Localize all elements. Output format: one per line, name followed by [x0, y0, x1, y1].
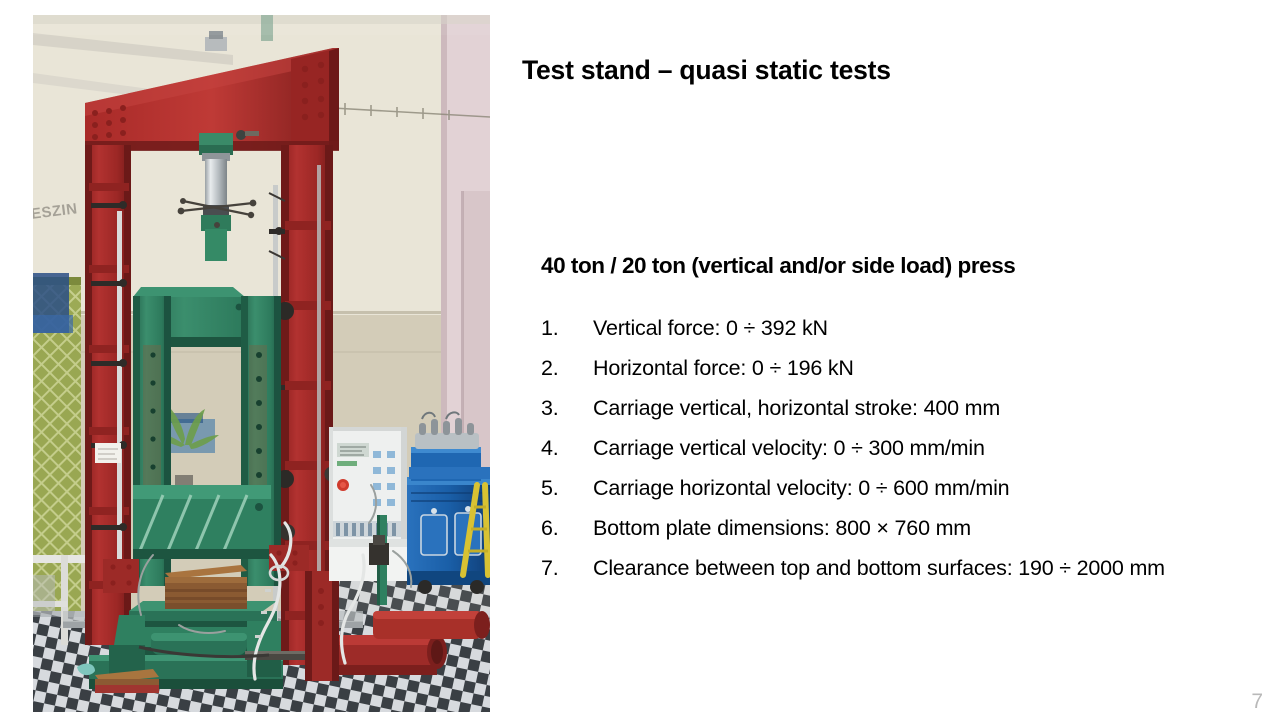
- list-item-text: Carriage vertical velocity: 0 ÷ 300 mm/m…: [593, 428, 1218, 468]
- list-item-text: Horizontal force: 0 ÷ 196 kN: [593, 348, 1218, 388]
- list-item: 6. Bottom plate dimensions: 800 × 760 mm: [541, 508, 1241, 548]
- press-photo: ESZIN: [33, 15, 490, 712]
- list-item-text: Vertical force: 0 ÷ 392 kN: [593, 308, 1218, 348]
- list-item-number: 7.: [541, 548, 593, 588]
- slide-title: Test stand – quasi static tests: [522, 55, 1242, 87]
- list-item: 3. Carriage vertical, horizontal stroke:…: [541, 388, 1241, 428]
- list-item-number: 2.: [541, 348, 593, 388]
- list-item: 1. Vertical force: 0 ÷ 392 kN: [541, 308, 1241, 348]
- list-item-text: Carriage horizontal velocity: 0 ÷ 600 mm…: [593, 468, 1218, 508]
- list-item-number: 4.: [541, 428, 593, 468]
- list-item-text: Clearance between top and bottom surface…: [593, 548, 1218, 588]
- list-item-number: 3.: [541, 388, 593, 428]
- press-spec-list: 1. Vertical force: 0 ÷ 392 kN 2. Horizon…: [541, 308, 1241, 588]
- press-photo-illustration: ESZIN: [33, 15, 490, 712]
- list-item: 4. Carriage vertical velocity: 0 ÷ 300 m…: [541, 428, 1241, 468]
- list-item-text: Bottom plate dimensions: 800 × 760 mm: [593, 508, 1218, 548]
- press-spec-heading: 40 ton / 20 ton (vertical and/or side lo…: [541, 252, 1241, 279]
- list-item-number: 6.: [541, 508, 593, 548]
- list-item-text: Carriage vertical, horizontal stroke: 40…: [593, 388, 1218, 428]
- list-item: 2. Horizontal force: 0 ÷ 196 kN: [541, 348, 1241, 388]
- page-number: 7: [1251, 690, 1263, 714]
- list-item-number: 5.: [541, 468, 593, 508]
- list-item-number: 1.: [541, 308, 593, 348]
- list-item: 7. Clearance between top and bottom surf…: [541, 548, 1241, 588]
- list-item: 5. Carriage horizontal velocity: 0 ÷ 600…: [541, 468, 1241, 508]
- slide-root: ESZIN: [0, 0, 1280, 720]
